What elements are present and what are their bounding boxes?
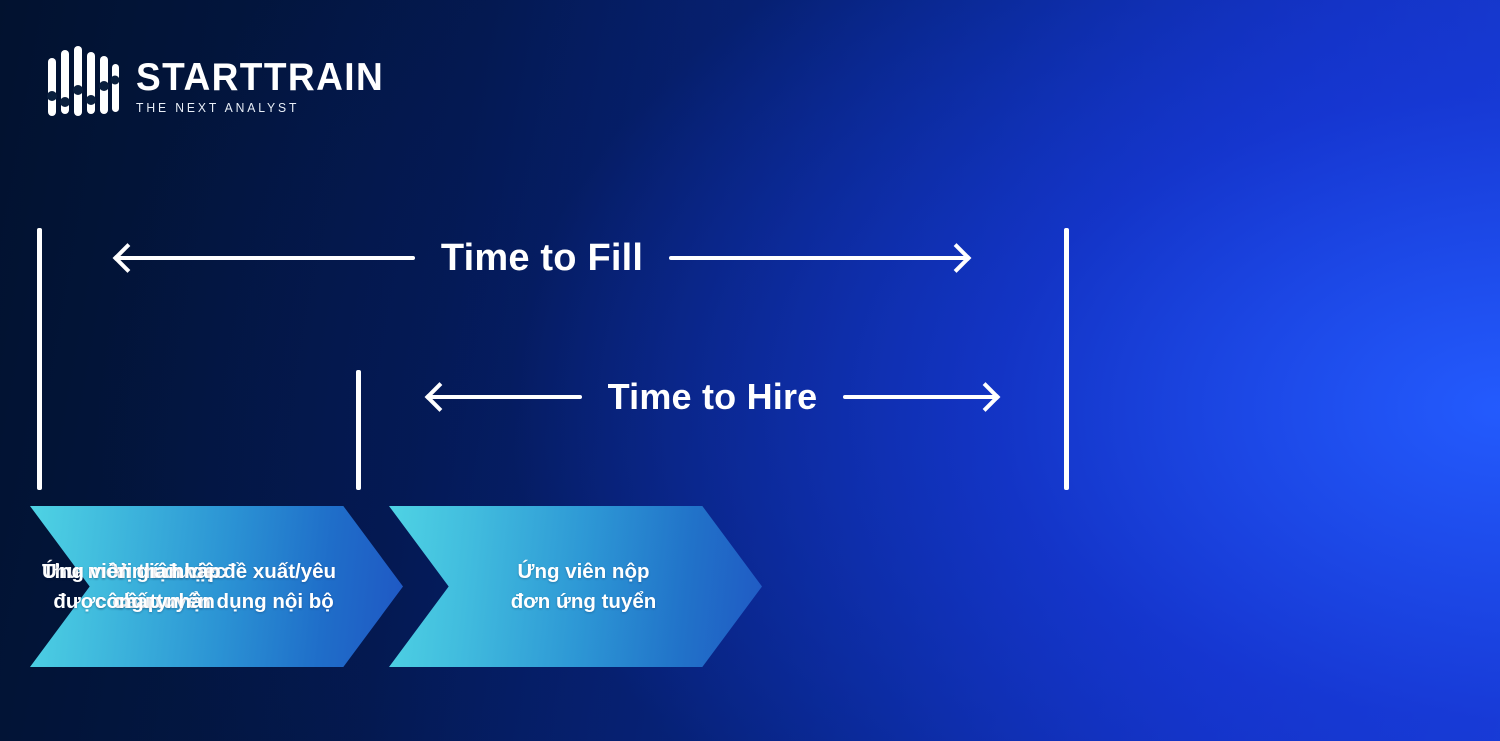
arrow-head-right-icon [942, 243, 972, 273]
brand-logo: STARTTRAIN THE NEXT ANALYST [46, 44, 397, 126]
arrow-left-time-to-fill [118, 256, 415, 260]
arrow-head-right-icon [971, 382, 1001, 412]
brand-title: STARTTRAIN [136, 59, 384, 96]
arrow-line [118, 256, 415, 260]
brand-tagline: THE NEXT ANALYST [136, 101, 389, 115]
funnel-stage-label: Ứng viên nộp đơn ứng tuyển [469, 557, 683, 616]
arrow-line [669, 256, 966, 260]
funnel-stage-label: Ứng viên gia nhập công ty [0, 557, 247, 616]
infographic-canvas: STARTTRAIN THE NEXT ANALYST Time to Fill… [0, 0, 1500, 741]
arrow-head-left-icon [425, 382, 455, 412]
arrow-right-time-to-fill [669, 256, 966, 260]
boundary-tick-start [37, 228, 42, 490]
brand-wordmark: STARTTRAIN THE NEXT ANALYST [136, 55, 397, 115]
measure-time-to-hire: Time to Hire [430, 372, 995, 422]
measure-time-to-fill: Time to Fill [118, 232, 966, 284]
measure-label-time-to-fill: Time to Fill [415, 237, 669, 280]
funnel-stage-4: Ứng viên gia nhập công ty [0, 506, 247, 667]
arrow-right-time-to-hire [843, 395, 995, 399]
measure-label-time-to-hire: Time to Hire [582, 376, 844, 418]
boundary-tick-middle [356, 370, 361, 490]
recruitment-stage-funnel: Vị trí được đề xuất/yêu cầu tuyển dụng n… [0, 506, 1500, 667]
boundary-tick-end [1064, 228, 1069, 490]
arrow-left-time-to-hire [430, 395, 582, 399]
funnel-stage-2: Ứng viên nộp đơn ứng tuyển [389, 506, 762, 667]
arrow-head-left-icon [113, 243, 143, 273]
equalizer-bars-icon [46, 44, 120, 126]
